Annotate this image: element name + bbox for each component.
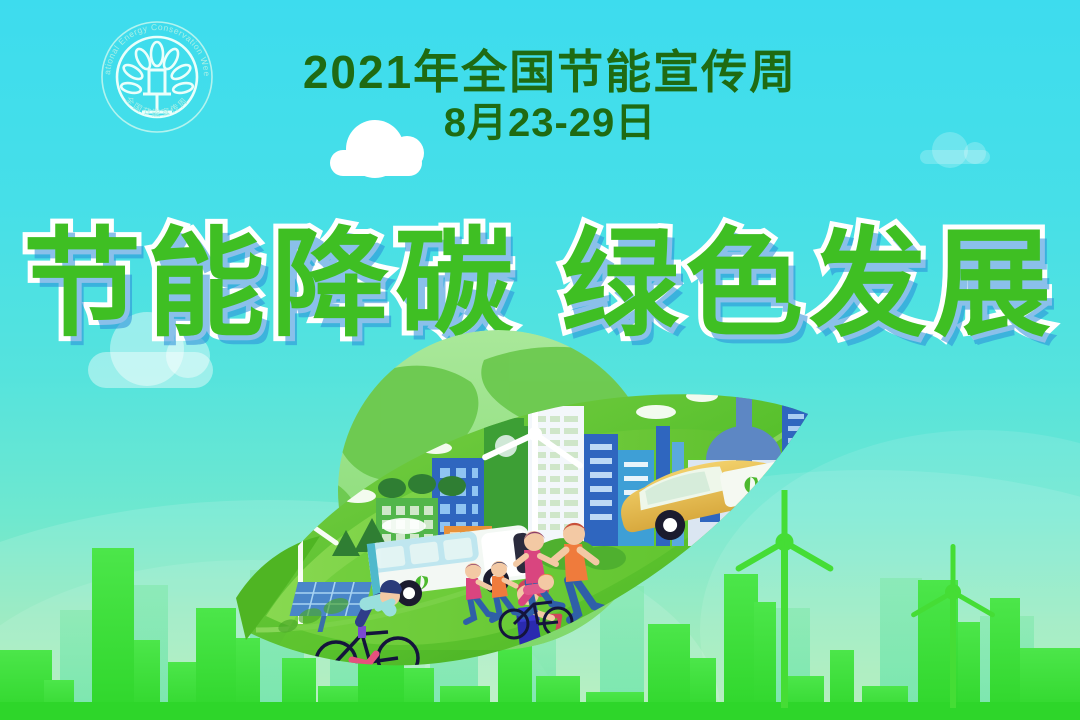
event-title: 2021年全国节能宣传周 bbox=[250, 48, 850, 98]
cloud-icon bbox=[920, 150, 990, 164]
poster-canvas: National Energy Conservation Week 全国节能宣传… bbox=[0, 0, 1080, 720]
cloud-icon bbox=[330, 150, 422, 176]
green-leaf-eco-city-illustration bbox=[236, 330, 856, 720]
emblem-logo: National Energy Conservation Week 全国节能宣传… bbox=[98, 18, 216, 136]
ev-charging-station bbox=[776, 458, 836, 536]
event-dates: 8月23-29日 bbox=[250, 100, 850, 146]
heading-block: 2021年全国节能宣传周 8月23-29日 bbox=[250, 48, 850, 146]
